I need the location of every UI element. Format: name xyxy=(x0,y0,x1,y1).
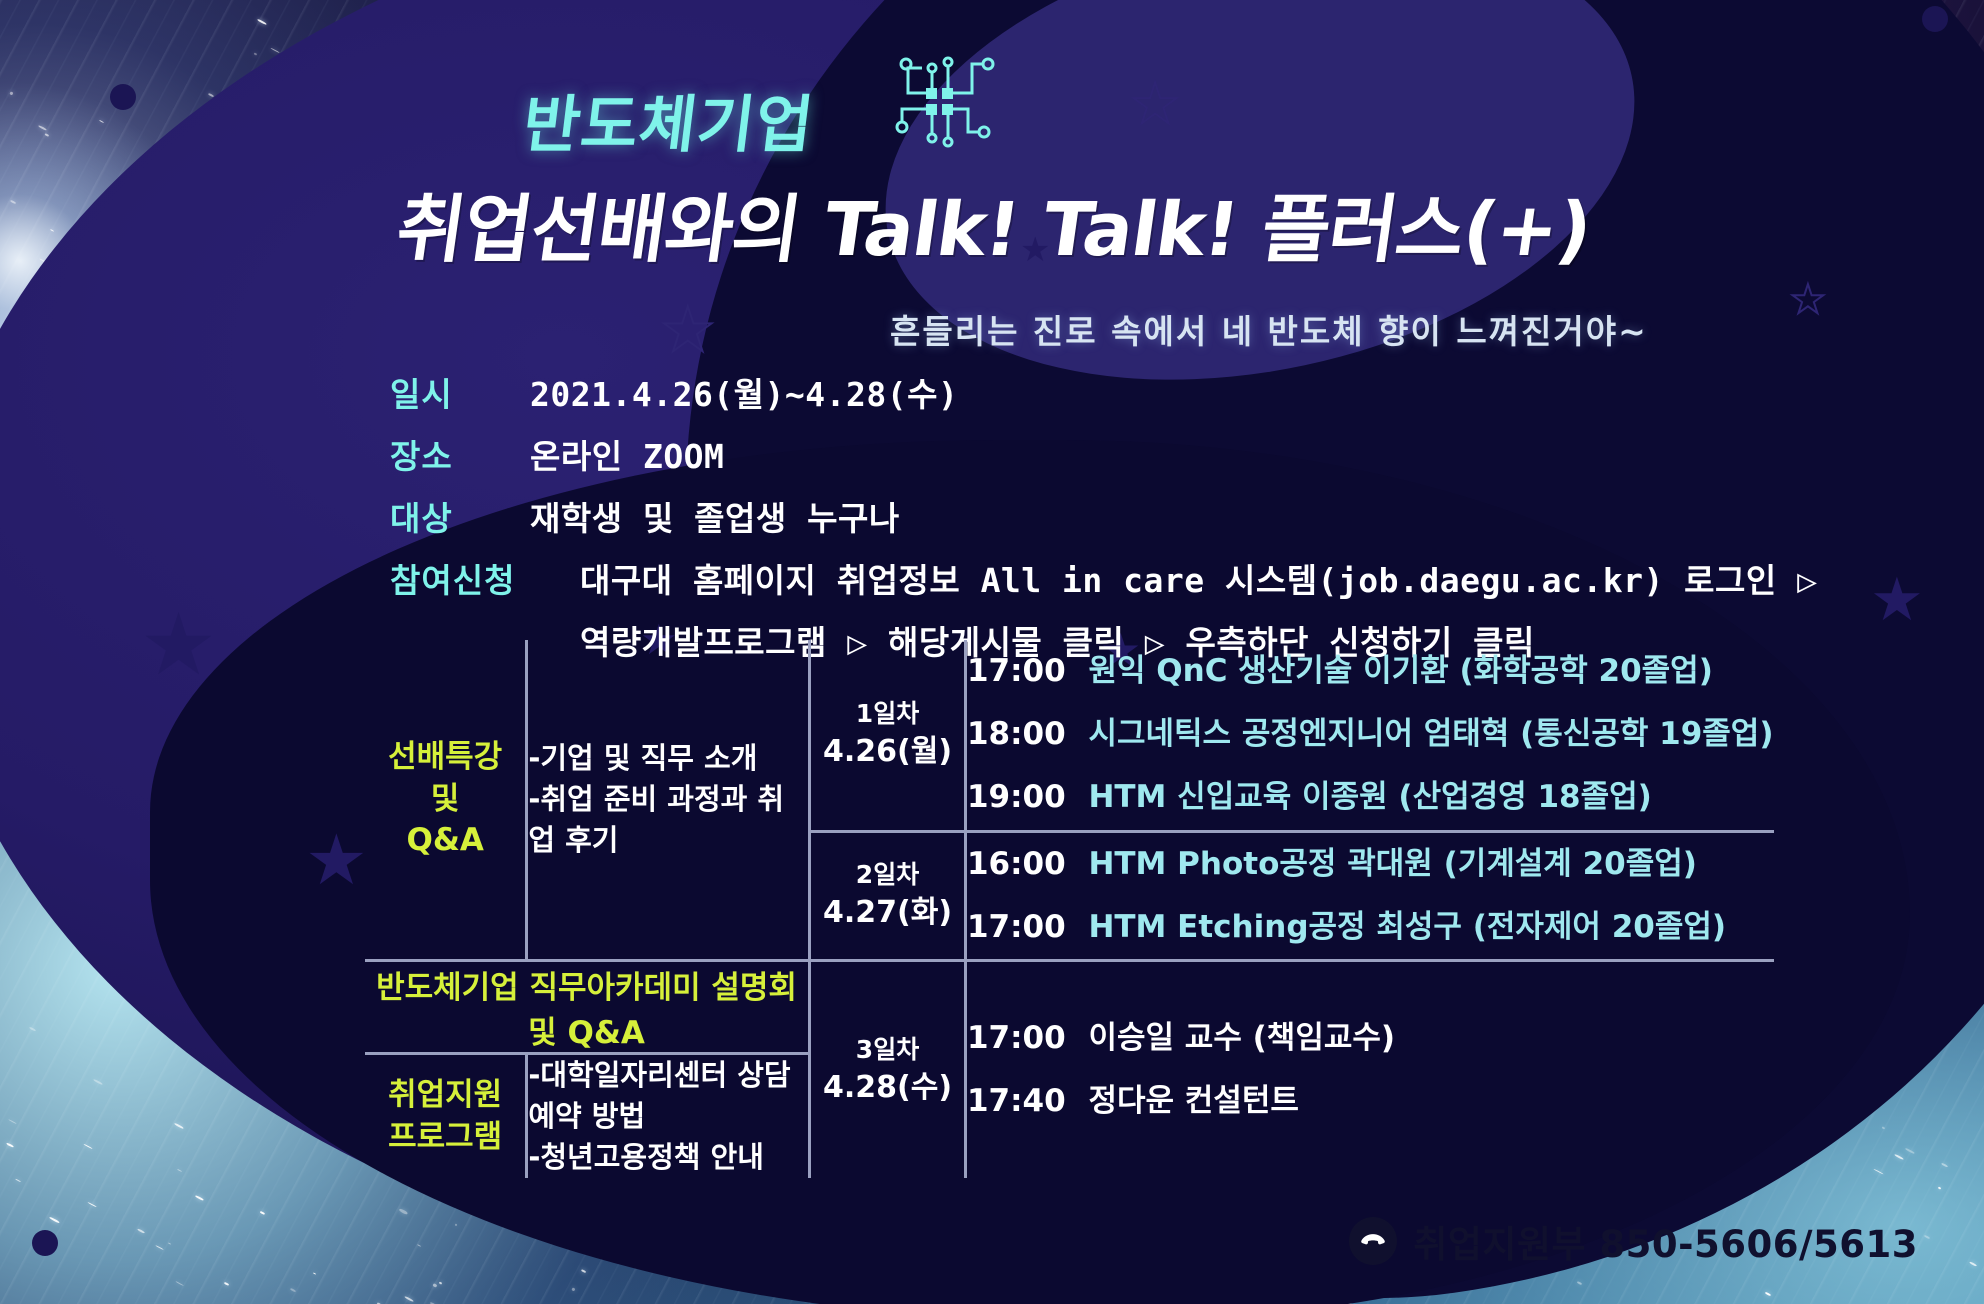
event-info-block: 일시 2021.4.26(월)~4.28(수) 장소 온라인 ZOOM 대상 재… xyxy=(390,368,1790,664)
day-1-date: 4.26(월) xyxy=(811,731,964,773)
poster-title: 취업선배와의 Talk! Talk! 플러스(+) xyxy=(390,170,1598,277)
info-row-apply: 참여신청 대구대 홈페이지 취업정보 All in care 시스템(job.d… xyxy=(390,554,1790,602)
category-line-1: 선배특강 xyxy=(365,737,525,779)
cell-day-2: 2일차 4.27(화) xyxy=(810,833,966,961)
cell-day-3: 3일차 4.28(수) xyxy=(810,962,966,1179)
info-label-apply: 참여신청 xyxy=(390,554,580,602)
session-time: 16:00 xyxy=(967,846,1066,882)
description-support-line-2: -청년고용정책 안내 xyxy=(528,1137,808,1178)
cell-description-lecture: -기업 및 직무 소개 -취업 준비 과정과 취업 후기 xyxy=(527,640,810,960)
description-line-2: -취업 준비 과정과 취업 후기 xyxy=(528,779,808,861)
info-label-target: 대상 xyxy=(390,492,530,540)
session-time: 19:00 xyxy=(967,779,1066,815)
cell-sessions-day-1: 17:00 원익 QnC 생산기술 이기환 (화학공학 20졸업) 18:00 … xyxy=(965,640,1773,831)
day-2-number: 2일차 xyxy=(811,857,964,892)
info-value-place: 온라인 ZOOM xyxy=(530,430,724,478)
cell-category-lecture: 선배특강 및 Q&A xyxy=(365,640,527,960)
session-time: 18:00 xyxy=(967,716,1066,752)
session-text: 원익 QnC 생산기술 이기환 (화학공학 20졸업) xyxy=(1088,653,1712,689)
session-text: 시그네틱스 공정엔지니어 엄태혁 (통신공학 19졸업) xyxy=(1088,716,1773,752)
day-1-number: 1일차 xyxy=(811,696,964,731)
session-text: 이승일 교수 (책임교수) xyxy=(1088,1020,1395,1056)
phone-icon xyxy=(1349,1217,1397,1265)
info-value-target: 재학생 및 졸업생 누구나 xyxy=(530,492,900,540)
session-item: 17:40 정다운 컨설턴트 xyxy=(967,1070,1774,1133)
cell-category-support: 취업지원 프로그램 xyxy=(365,1055,527,1179)
cell-day-1: 1일차 4.26(월) xyxy=(810,640,966,831)
day-3-number: 3일차 xyxy=(811,1032,964,1067)
info-row-place: 장소 온라인 ZOOM xyxy=(390,430,1790,478)
session-time: 17:00 xyxy=(967,653,1066,689)
session-item: 19:00 HTM 신입교육 이종원 (산업경영 18졸업) xyxy=(967,766,1774,829)
category-support-line-2: 프로그램 xyxy=(365,1117,525,1159)
schedule-table: 선배특강 및 Q&A -기업 및 직무 소개 -취업 준비 과정과 취업 후기 … xyxy=(365,640,1775,1178)
session-time: 17:00 xyxy=(967,909,1066,945)
cell-sessions-day-3: 17:00 이승일 교수 (책임교수) 17:40 정다운 컨설턴트 xyxy=(965,962,1773,1179)
footer-contact: 취업지원부 850-5606/5613 xyxy=(1349,1214,1918,1268)
info-value-apply: 대구대 홈페이지 취업정보 All in care 시스템(job.daegu.… xyxy=(580,554,1818,602)
category-support-line-1: 취업지원 xyxy=(365,1075,525,1117)
description-line-1: -기업 및 직무 소개 xyxy=(528,738,808,779)
session-text: HTM Photo공정 곽대원 (기계설계 20졸업) xyxy=(1088,846,1697,882)
info-label-place: 장소 xyxy=(390,430,530,478)
cell-sessions-day-2: 16:00 HTM Photo공정 곽대원 (기계설계 20졸업) 17:00 … xyxy=(965,833,1773,961)
session-item: 17:00 원익 QnC 생산기술 이기환 (화학공학 20졸업) xyxy=(967,640,1774,703)
poster-root: ★ ★ ★ ★ ★ ★ ★ ★ ★ ★ 반도체기업 xyxy=(0,0,1984,1304)
session-item: 16:00 HTM Photo공정 곽대원 (기계설계 20졸업) xyxy=(967,833,1774,896)
poster-kicker: 반도체기업 xyxy=(518,74,819,164)
info-row-target: 대상 재학생 및 졸업생 누구나 xyxy=(390,492,1790,540)
session-item: 18:00 시그네틱스 공정엔지니어 엄태혁 (통신공학 19졸업) xyxy=(967,703,1774,766)
poster-tagline: 흔들리는 진로 속에서 네 반도체 향이 느껴진거야~ xyxy=(890,305,1648,353)
session-text: 정다운 컨설턴트 xyxy=(1088,1083,1298,1119)
session-time: 17:00 xyxy=(967,1020,1066,1056)
session-item: 17:00 HTM Etching공정 최성구 (전자제어 20졸업) xyxy=(967,896,1774,959)
day-3-date: 4.28(수) xyxy=(811,1067,964,1109)
footer-contact-text: 취업지원부 850-5606/5613 xyxy=(1413,1214,1918,1268)
category-line-2: 및 xyxy=(365,779,525,821)
cell-academy-session: 반도체기업 직무아카데미 설명회 및 Q&A xyxy=(365,962,810,1054)
description-support-line-1: -대학일자리센터 상담예약 방법 xyxy=(528,1055,808,1137)
session-time: 17:40 xyxy=(967,1083,1066,1119)
session-text: HTM Etching공정 최성구 (전자제어 20졸업) xyxy=(1088,909,1726,945)
session-text: HTM 신입교육 이종원 (산업경영 18졸업) xyxy=(1088,779,1651,815)
info-value-date: 2021.4.26(월)~4.28(수) xyxy=(530,368,958,416)
info-label-date: 일시 xyxy=(390,368,530,416)
table-row: 반도체기업 직무아카데미 설명회 및 Q&A 3일차 4.28(수) 17:00… xyxy=(365,962,1774,1054)
cell-description-support: -대학일자리센터 상담예약 방법 -청년고용정책 안내 xyxy=(527,1055,810,1179)
session-item: 17:00 이승일 교수 (책임교수) xyxy=(967,1007,1774,1070)
circuit-chip-icon xyxy=(880,48,1000,160)
category-line-3: Q&A xyxy=(365,820,525,862)
info-row-date: 일시 2021.4.26(월)~4.28(수) xyxy=(390,368,1790,416)
day-2-date: 4.27(화) xyxy=(811,892,964,934)
